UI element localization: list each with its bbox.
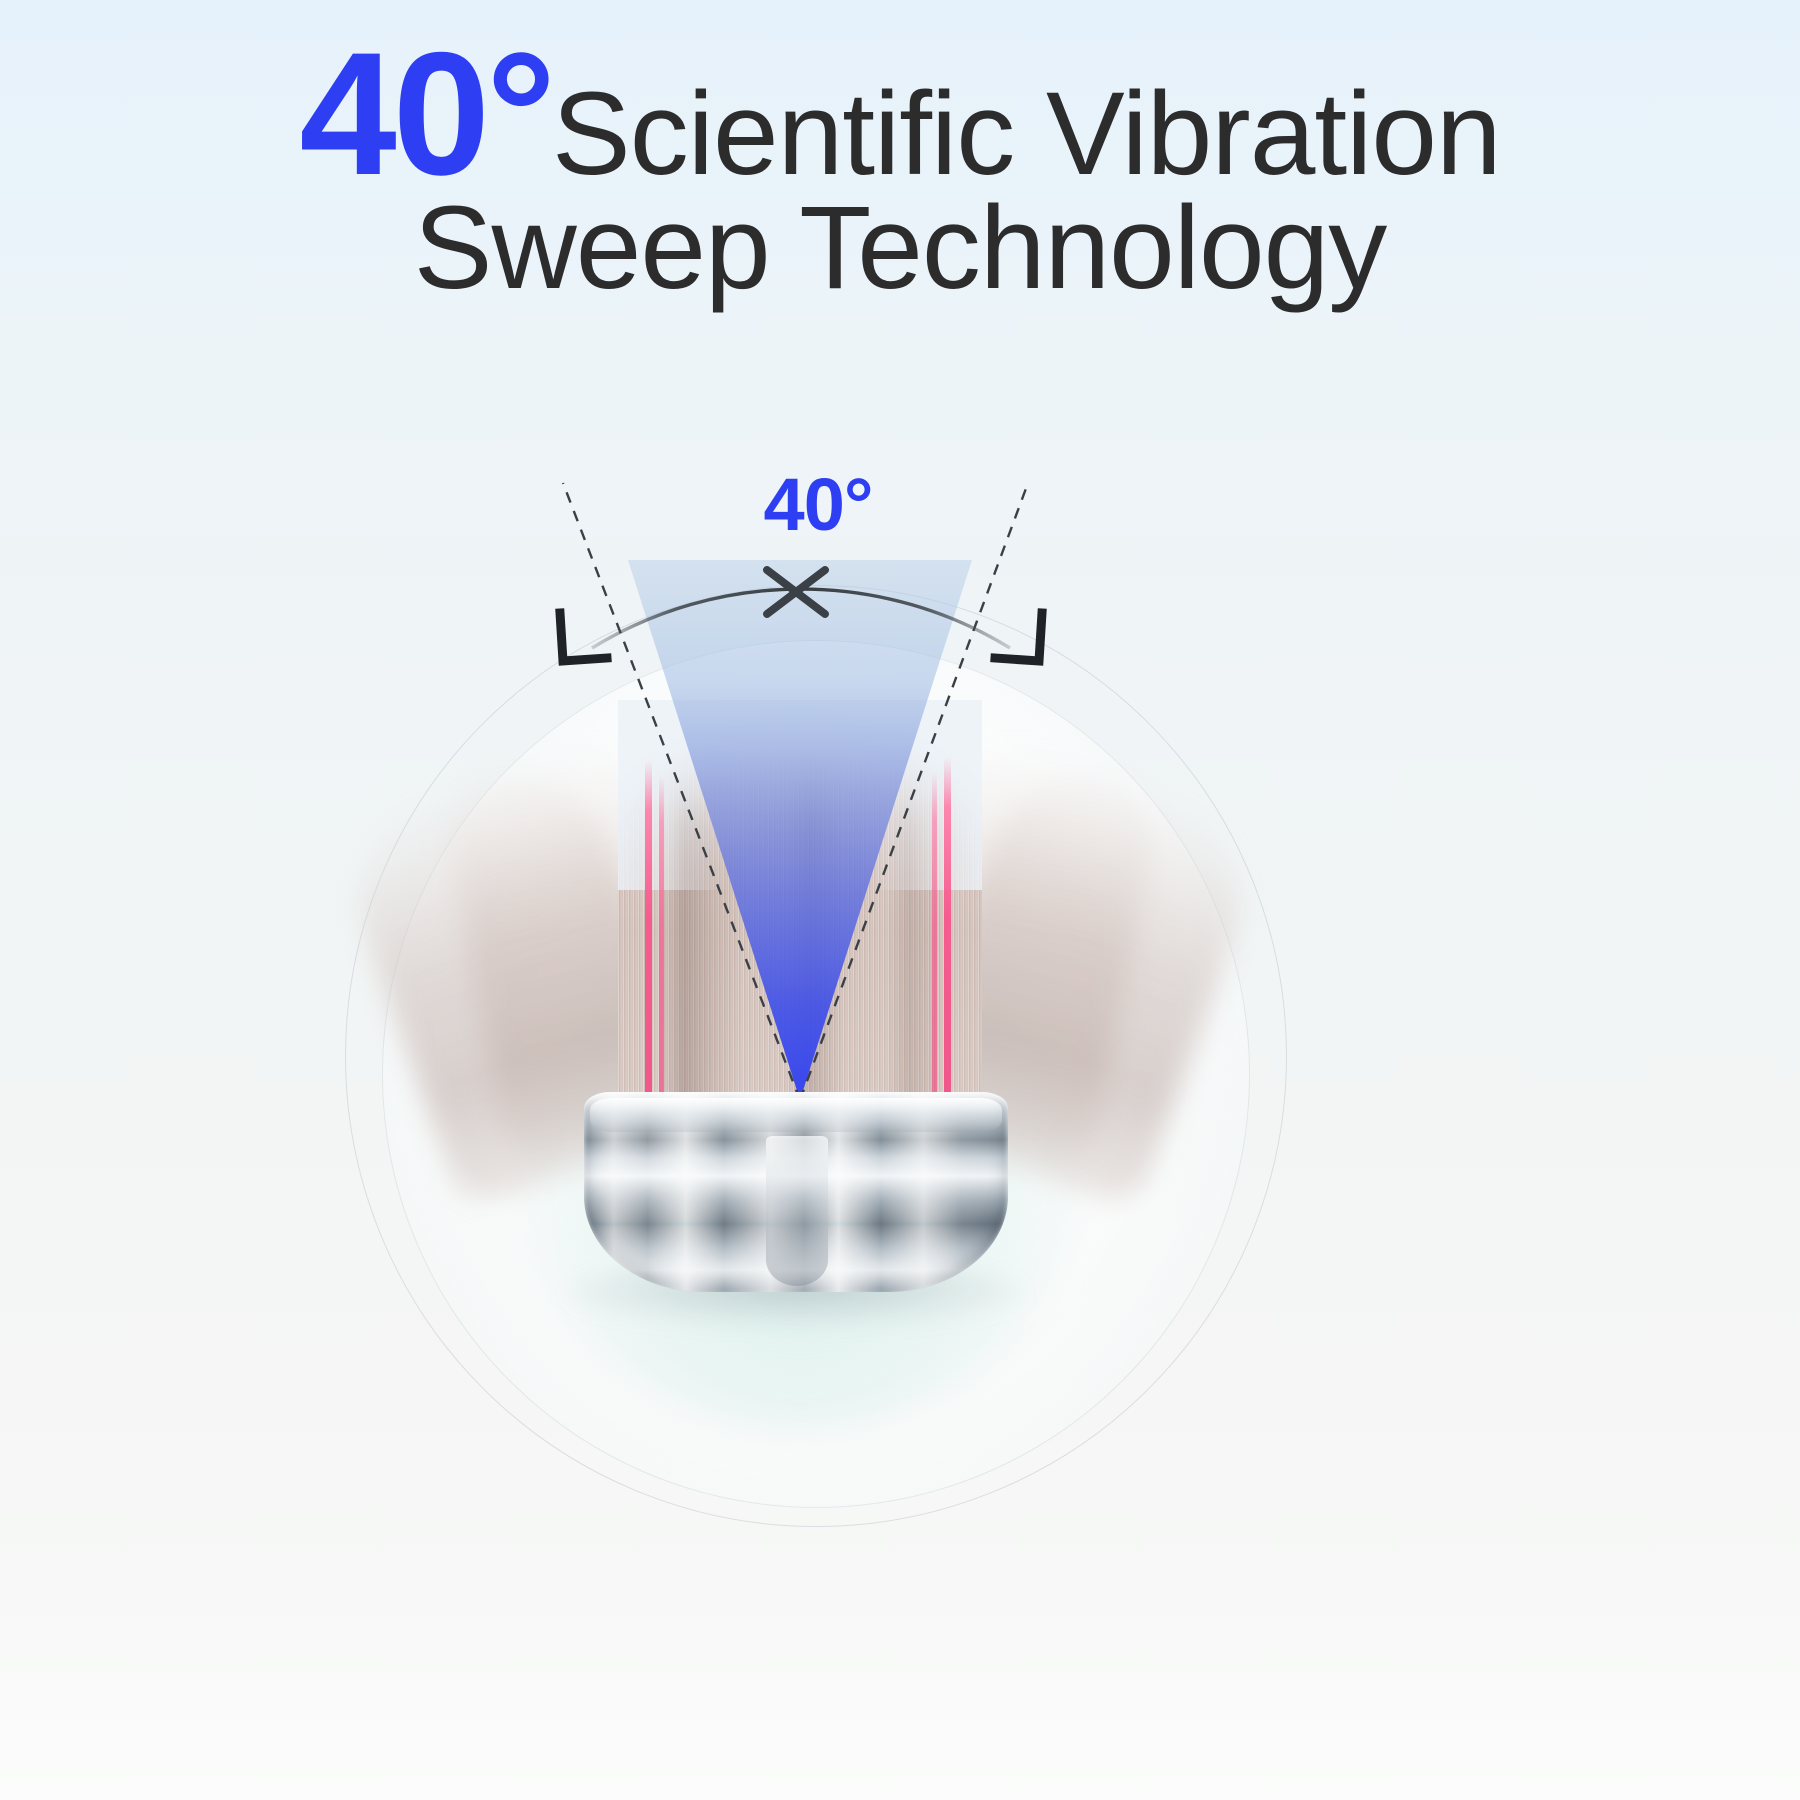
- pink-bristle-strand-right-2: [932, 772, 937, 1115]
- pink-bristle-strand-right-1: [944, 757, 951, 1115]
- bristle-cluster: [618, 700, 982, 1120]
- diagram-angle-label: 40°: [718, 462, 918, 547]
- bristle-top-fade: [618, 700, 982, 890]
- sweep-diagram: 40°: [0, 0, 1800, 1800]
- pink-bristle-strand-left-1: [645, 760, 652, 1115]
- product-feature-banner: 40°Scientific Vibration Sweep Technology: [0, 0, 1800, 1800]
- base-center-notch: [766, 1136, 828, 1286]
- pink-bristle-strand-left-2: [659, 775, 664, 1115]
- base-top-rim: [590, 1098, 1002, 1132]
- chrome-metal-base: [584, 1092, 1008, 1292]
